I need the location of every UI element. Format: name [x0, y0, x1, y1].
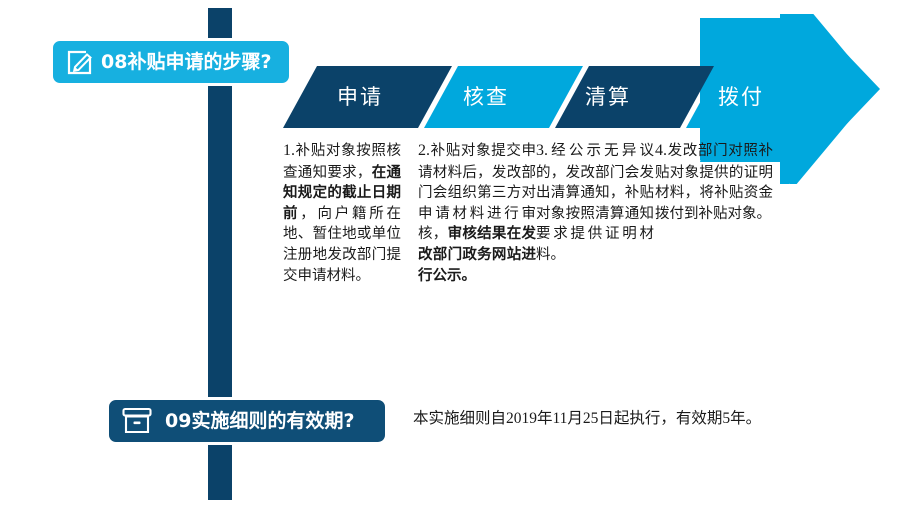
step-description-columns: 1.补贴对象按照核查通知要求，在通知规定的截止日期前，向户籍所在地、暂住地或单位…: [283, 140, 883, 370]
step-number: 4.: [655, 142, 667, 159]
step-number: 1.: [283, 142, 295, 159]
question-badge-08[interactable]: 08补贴申请的步骤?: [50, 38, 292, 86]
slide-canvas: 申请 核查 清算 拨付 08补贴申请的步骤? 09实施细则的有效期? 1.补贴对…: [0, 0, 900, 507]
body-text: ，向户籍所在地、暂住地或单位注册地发改部门提交申请材料。: [283, 206, 401, 284]
step-number: 3.: [536, 142, 548, 159]
step-label-4: 拨付: [718, 87, 764, 108]
question-badge-09[interactable]: 09实施细则的有效期?: [106, 397, 388, 445]
step-number: 2.: [418, 142, 430, 159]
step-label-1: 申请: [337, 87, 383, 108]
step-segment-3: [555, 66, 714, 128]
validity-period-text: 本实施细则自2019年11月25日起执行，有效期5年。: [413, 408, 883, 430]
step-description-4: 4.发改部门对照补贴对象提供的证明材料，将补贴资金拨付到补贴对象。: [655, 140, 773, 224]
step-label-2: 核查: [463, 87, 509, 108]
archive-box-icon: [121, 406, 153, 436]
step-description-2: 2.补贴对象提交申请材料后，发改部门会组织第三方对申请材料进行审核，审核结果在发…: [418, 140, 536, 286]
body-text: 发改部门对照补贴对象提供的证明材料，将补贴资金拨付到补贴对象。: [655, 143, 773, 222]
body-text: 经公示无异议的，发改部门会发出清算通知，补贴对象按照清算通知要求提供证明材料。: [536, 143, 654, 263]
step-description-1: 1.补贴对象按照核查通知要求，在通知规定的截止日期前，向户籍所在地、暂住地或单位…: [283, 140, 401, 286]
question-badge-08-label: 08补贴申请的步骤?: [101, 53, 271, 72]
step-description-3: 3.经公示无异议的，发改部门会发出清算通知，补贴对象按照清算通知要求提供证明材料…: [536, 140, 654, 266]
question-badge-09-label: 09实施细则的有效期?: [165, 412, 354, 431]
step-label-3: 清算: [585, 87, 631, 108]
edit-square-icon: [65, 47, 95, 77]
